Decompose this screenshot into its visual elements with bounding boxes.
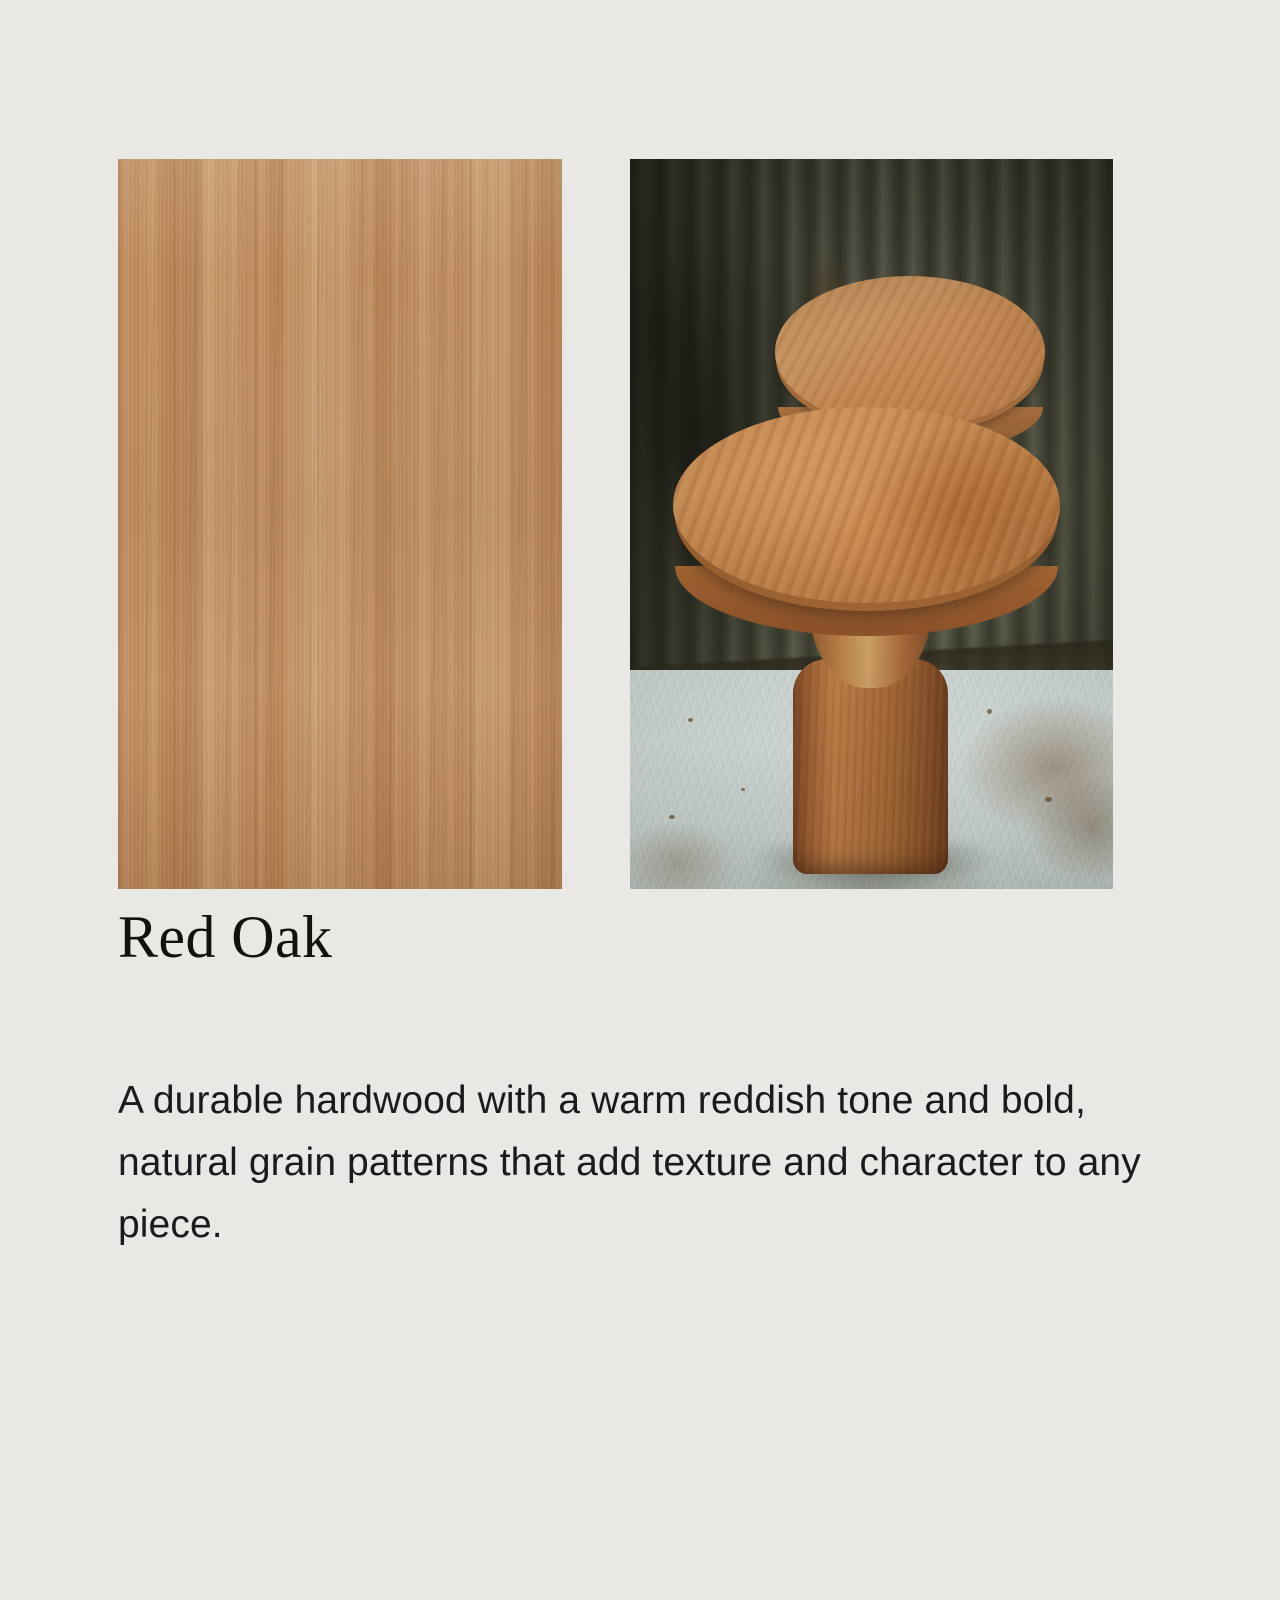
swatch-lighting-overlay (118, 159, 562, 889)
photo-scene (630, 159, 1113, 889)
front-side-table (673, 407, 1059, 874)
material-title: Red Oak (118, 906, 332, 969)
media-row (118, 159, 1113, 889)
material-description: A durable hardwood with a warm reddish t… (118, 1070, 1178, 1256)
red-oak-grain-swatch[interactable] (118, 159, 562, 889)
material-card-page: Red Oak A durable hardwood with a warm r… (0, 0, 1280, 1600)
front-table-base (793, 659, 948, 874)
red-oak-side-tables-photo[interactable] (630, 159, 1113, 889)
back-table-top (775, 276, 1045, 428)
front-table-top (673, 407, 1059, 603)
